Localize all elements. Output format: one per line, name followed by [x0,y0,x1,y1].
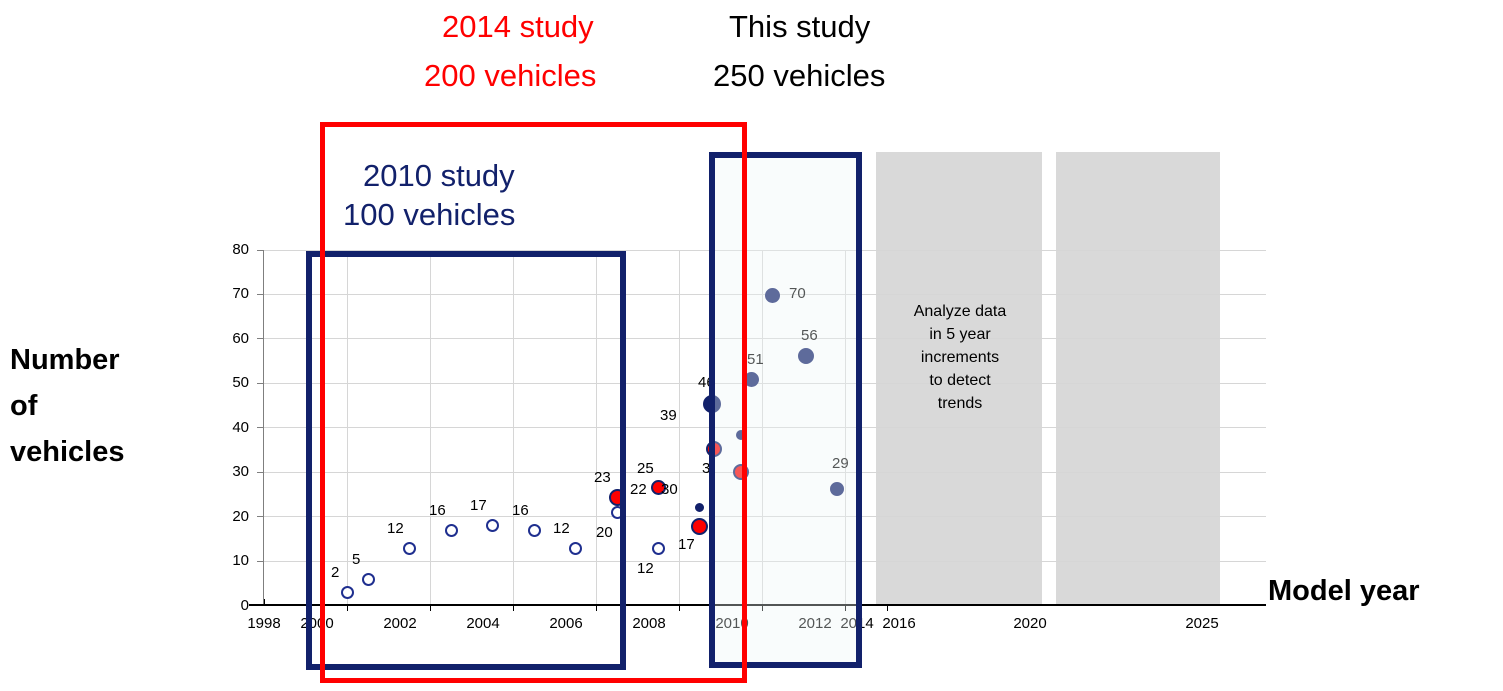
x-axis-title: Model year [1268,568,1420,614]
heading-2014-study-line2: 200 vehicles [424,57,596,95]
analysis-note-line-5: trends [881,392,1039,415]
y-tick-20 [257,516,264,517]
y-tick-60 [257,338,264,339]
y-tick-50 [257,383,264,384]
analysis-note: Analyze data in 5 year increments to det… [881,300,1039,415]
y-tick-80 [257,250,264,251]
y-tick-label-60: 60 [215,331,249,346]
y-tick-label-10: 10 [215,553,249,568]
y-axis-title: Number of vehicles [10,337,124,475]
y-tick-label-0: 0 [215,598,249,613]
heading-this-study-line1: This study [729,8,870,46]
future-band-2 [1056,152,1220,605]
y-tick-40 [257,427,264,428]
chart-root: 80 70 60 50 40 30 20 10 0 1998 2000 2002… [0,0,1503,691]
analysis-note-line-1: Analyze data [881,300,1039,323]
y-tick-label-40: 40 [215,420,249,435]
heading-2010-study-line2: 100 vehicles [343,196,515,234]
analysis-note-line-4: to detect [881,369,1039,392]
y-tick-10 [257,561,264,562]
y-tick-label-20: 20 [215,509,249,524]
y-tick-label-30: 30 [215,464,249,479]
x-tick-1998 [264,599,265,605]
y-tick-label-50: 50 [215,375,249,390]
x-tick-label-2020: 2020 [1000,616,1060,632]
y-tick-70 [257,294,264,295]
y-tick-30 [257,472,264,473]
heading-this-study-line2: 250 vehicles [713,57,885,95]
heading-2014-study-line1: 2014 study [442,8,594,46]
y-tick-label-70: 70 [215,286,249,301]
x-tick-label-1998: 1998 [234,616,294,632]
heading-2010-study-line1: 2010 study [363,157,515,195]
x-tick-label-2025: 2025 [1172,616,1232,632]
analysis-note-line-3: increments [881,346,1039,369]
x-tick-label-2016: 2016 [869,616,929,632]
analysis-note-line-2: in 5 year [881,323,1039,346]
x-tick-2014 [887,605,888,611]
scatter-plot: 80 70 60 50 40 30 20 10 0 1998 2000 2002… [0,0,1503,691]
y-tick-label-80: 80 [215,242,249,257]
